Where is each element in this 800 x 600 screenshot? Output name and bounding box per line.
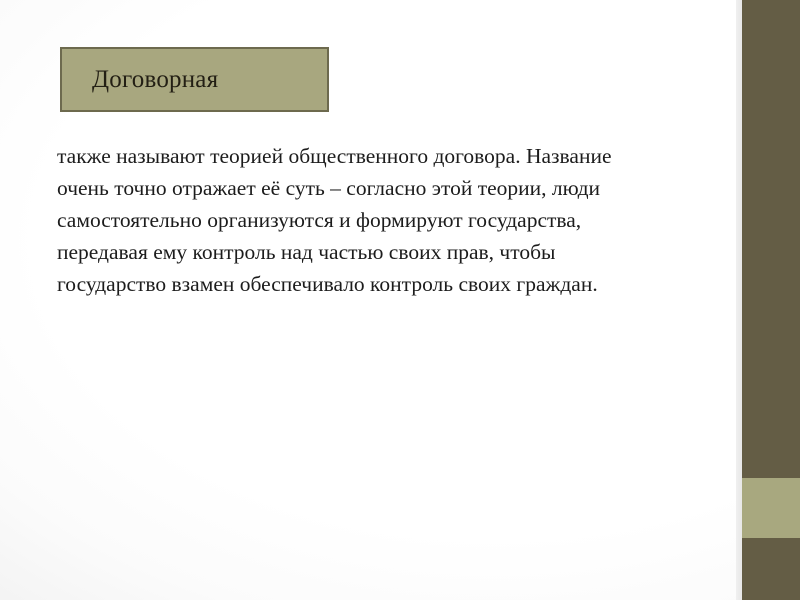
slide-canvas: Договорная также называют теорией общест…	[0, 0, 800, 600]
body-line: государство взамен обеспечивало контроль…	[57, 268, 697, 300]
body-line: очень точно отражает её суть – согласно …	[57, 172, 697, 204]
right-bar-segment-dark-top	[742, 0, 800, 478]
body-line: самостоятельно организуются и формируют …	[57, 204, 697, 236]
slide-title-text: Договорная	[62, 66, 218, 94]
right-bar-segment-light-accent	[742, 478, 800, 538]
body-line: передавая ему контроль над частью своих …	[57, 236, 697, 268]
slide-title-box: Договорная	[60, 47, 329, 112]
right-bar-segment-dark-bottom	[742, 538, 800, 600]
body-line: также называют теорией общественного дог…	[57, 140, 697, 172]
slide-body-text: также называют теорией общественного дог…	[57, 140, 697, 300]
right-decorative-bar	[742, 0, 800, 600]
